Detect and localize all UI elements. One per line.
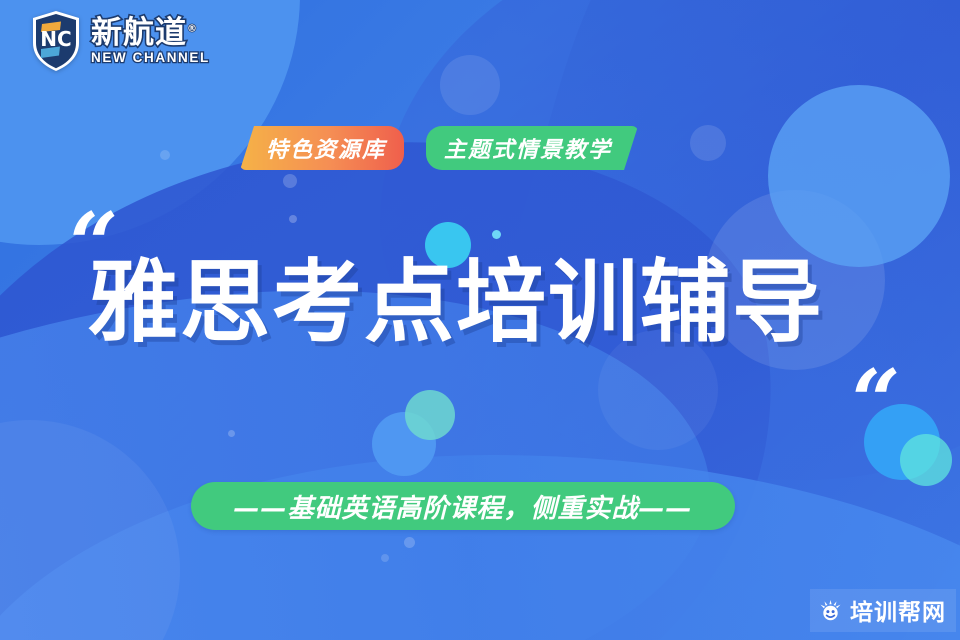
decor-circle-mint-quote xyxy=(900,434,952,486)
decor-dot-g xyxy=(381,554,389,562)
svg-text:NC: NC xyxy=(40,27,71,51)
decor-dot-d xyxy=(289,215,297,223)
registered-mark: ® xyxy=(187,23,198,34)
decor-dot-e xyxy=(228,430,235,437)
decor-dot-a xyxy=(283,174,297,188)
watermark-label: 培训帮网 xyxy=(850,593,946,627)
page-title: 雅思考点培训辅导 xyxy=(88,258,824,348)
promo-banner: NC 新航道® NEW CHANNEL 特色资源库 主题式情景教学 “ 雅思考点… xyxy=(0,0,960,640)
brand-name-en: NEW CHANNEL xyxy=(91,51,210,65)
subtitle-banner: ——基础英语高阶课程，侧重实战—— xyxy=(191,482,735,530)
decor-circle-top-small xyxy=(440,55,500,115)
subtitle-text: ——基础英语高阶课程，侧重实战—— xyxy=(233,488,692,525)
decor-dot-b xyxy=(160,150,170,160)
tag-resource-library[interactable]: 特色资源库 xyxy=(240,126,404,170)
brand-wordmark: 新航道® NEW CHANNEL xyxy=(91,18,210,65)
watermark: 培训帮网 xyxy=(810,589,956,632)
brand-logo[interactable]: NC 新航道® NEW CHANNEL xyxy=(30,10,210,72)
decor-dot-c xyxy=(492,230,501,239)
decor-dot-f xyxy=(404,537,415,548)
decor-circle-top-small-2 xyxy=(690,125,726,161)
decor-circle-mint-lowerleft xyxy=(405,390,455,440)
nc-shield-icon: NC xyxy=(30,10,82,72)
quote-close-icon: “ xyxy=(844,372,904,432)
feature-tags: 特色资源库 主题式情景教学 xyxy=(240,126,638,170)
sun-face-icon xyxy=(818,599,843,621)
tag-thematic-teaching[interactable]: 主题式情景教学 xyxy=(426,126,638,170)
brand-name-cn-text: 新航道 xyxy=(91,15,187,51)
decor-circle-light-right xyxy=(768,85,950,267)
brand-name-cn: 新航道® xyxy=(91,18,198,49)
